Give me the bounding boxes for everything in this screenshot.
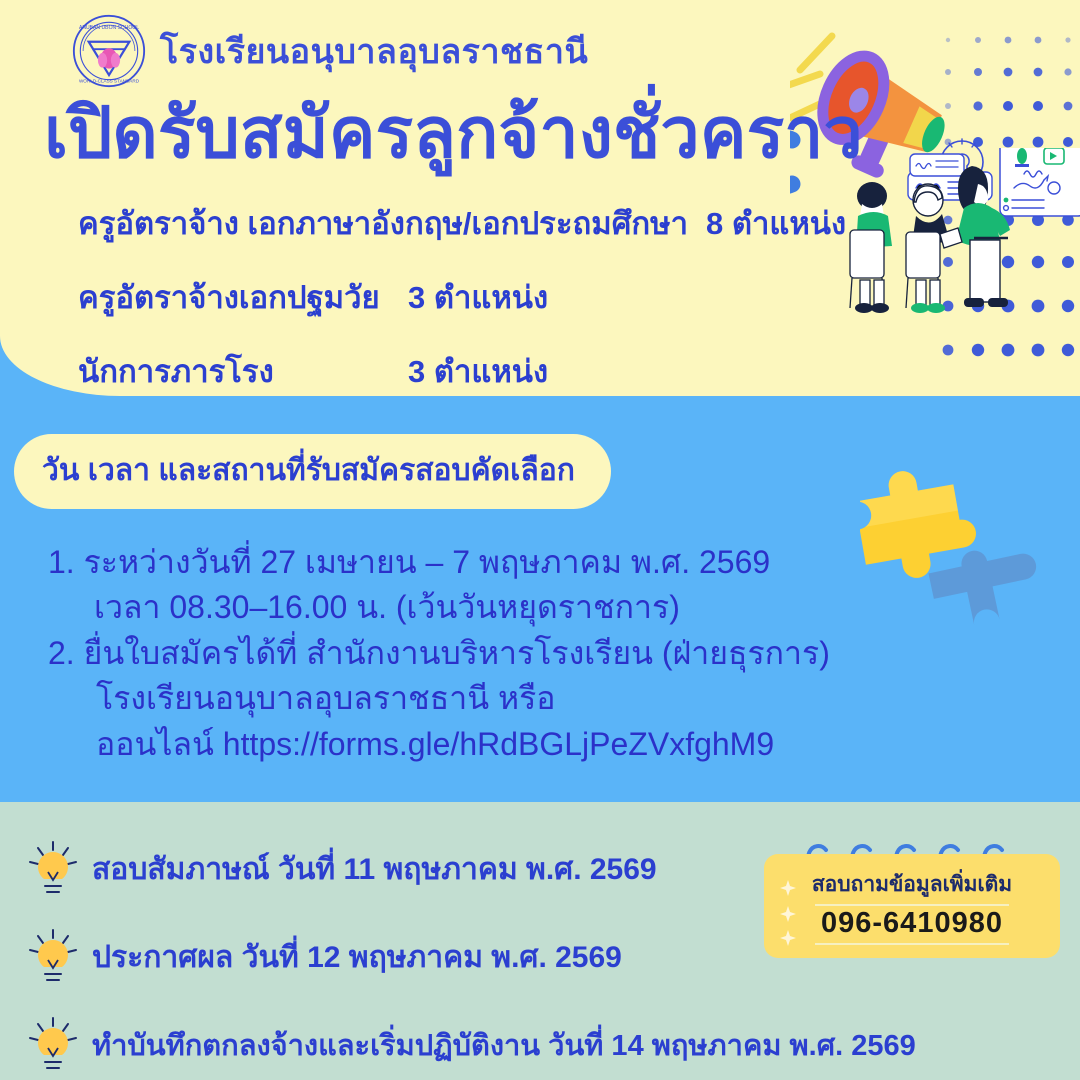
job-count: 3 ตำแหน่ง (408, 346, 548, 396)
schedule-line: 1. ระหว่างวันที่ 27 เมษายน – 7 พฤษภาคม พ… (48, 540, 968, 585)
contact-phone[interactable]: 096-6410980 (815, 904, 1009, 945)
milestone-row: ทำบันทึกตกลงจ้างและเริ่มปฏิบัติงาน วันที… (26, 1014, 786, 1076)
svg-text:WORLD-CLASS STANDARD: WORLD-CLASS STANDARD (79, 78, 140, 83)
job-row: ครูอัตราจ้างเอกปฐมวัย 3 ตำแหน่ง (78, 272, 898, 322)
job-row: ครูอัตราจ้าง เอกภาษาอังกฤษ/เอกประถมศึกษา… (78, 198, 898, 248)
job-title: นักการภารโรง (78, 346, 408, 396)
schedule-line: โรงเรียนอนุบาลอุบลราชธานี หรือ (48, 676, 968, 721)
schedule-pill-label: วัน เวลา และสถานที่รับสมัครสอบคัดเลือก (42, 454, 575, 487)
milestone-text: ทำบันทึกตกลงจ้างและเริ่มปฏิบัติงาน วันที… (92, 1022, 916, 1068)
job-title: ครูอัตราจ้าง เอกภาษาอังกฤษ/เอกประถมศึกษา (78, 198, 688, 248)
contact-label: สอบถามข้อมูลเพิ่มเติม (812, 868, 1012, 901)
schedule-line: 2. ยื่นใบสมัครได้ที่ สำนักงานบริหารโรงเร… (48, 631, 968, 676)
svg-text:ANUBAN UBON SCHOOL: ANUBAN UBON SCHOOL (79, 25, 139, 31)
schedule-pill: วัน เวลา และสถานที่รับสมัครสอบคัดเลือก (14, 434, 611, 509)
application-url[interactable]: ออนไลน์ https://forms.gle/hRdBGLjPeZVxfg… (48, 722, 968, 767)
page-title: เปิดรับสมัครลูกจ้างชั่วคราว (44, 96, 884, 172)
schedule-body: 1. ระหว่างวันที่ 27 เมษายน – 7 พฤษภาคม พ… (48, 540, 968, 767)
lightbulb-icon (26, 926, 80, 988)
lightbulb-icon (26, 1014, 80, 1076)
milestone-text: สอบสัมภาษณ์ วันที่ 11 พฤษภาคม พ.ศ. 2569 (92, 846, 657, 893)
lightbulb-icon (26, 838, 80, 900)
milestone-row: ประกาศผล วันที่ 12 พฤษภาคม พ.ศ. 2569 (26, 926, 786, 988)
milestone-row: สอบสัมภาษณ์ วันที่ 11 พฤษภาคม พ.ศ. 2569 (26, 838, 786, 900)
job-row: นักการภารโรง 3 ตำแหน่ง (78, 346, 898, 396)
job-list: ครูอัตราจ้าง เอกภาษาอังกฤษ/เอกประถมศึกษา… (78, 198, 898, 420)
school-crest-logo-icon: ANUBAN UBON SCHOOL WORLD-CLASS STANDARD (72, 14, 146, 88)
job-count: 3 ตำแหน่ง (408, 272, 548, 322)
job-title: ครูอัตราจ้างเอกปฐมวัย (78, 272, 408, 322)
milestone-list: สอบสัมภาษณ์ วันที่ 11 พฤษภาคม พ.ศ. 2569 … (26, 838, 786, 1076)
contact-card: สอบถามข้อมูลเพิ่มเติม 096-6410980 (764, 854, 1060, 958)
milestone-text: ประกาศผล วันที่ 12 พฤษภาคม พ.ศ. 2569 (92, 934, 622, 981)
header-row: ANUBAN UBON SCHOOL WORLD-CLASS STANDARD … (72, 14, 588, 88)
job-count: 8 ตำแหน่ง (706, 198, 846, 248)
schedule-line: เวลา 08.30–16.00 น. (เว้นวันหยุดราชการ) (48, 585, 968, 630)
poster-root: ANUBAN UBON SCHOOL WORLD-CLASS STANDARD … (0, 0, 1080, 1080)
school-name: โรงเรียนอนุบาลอุบลราชธานี (160, 24, 588, 78)
